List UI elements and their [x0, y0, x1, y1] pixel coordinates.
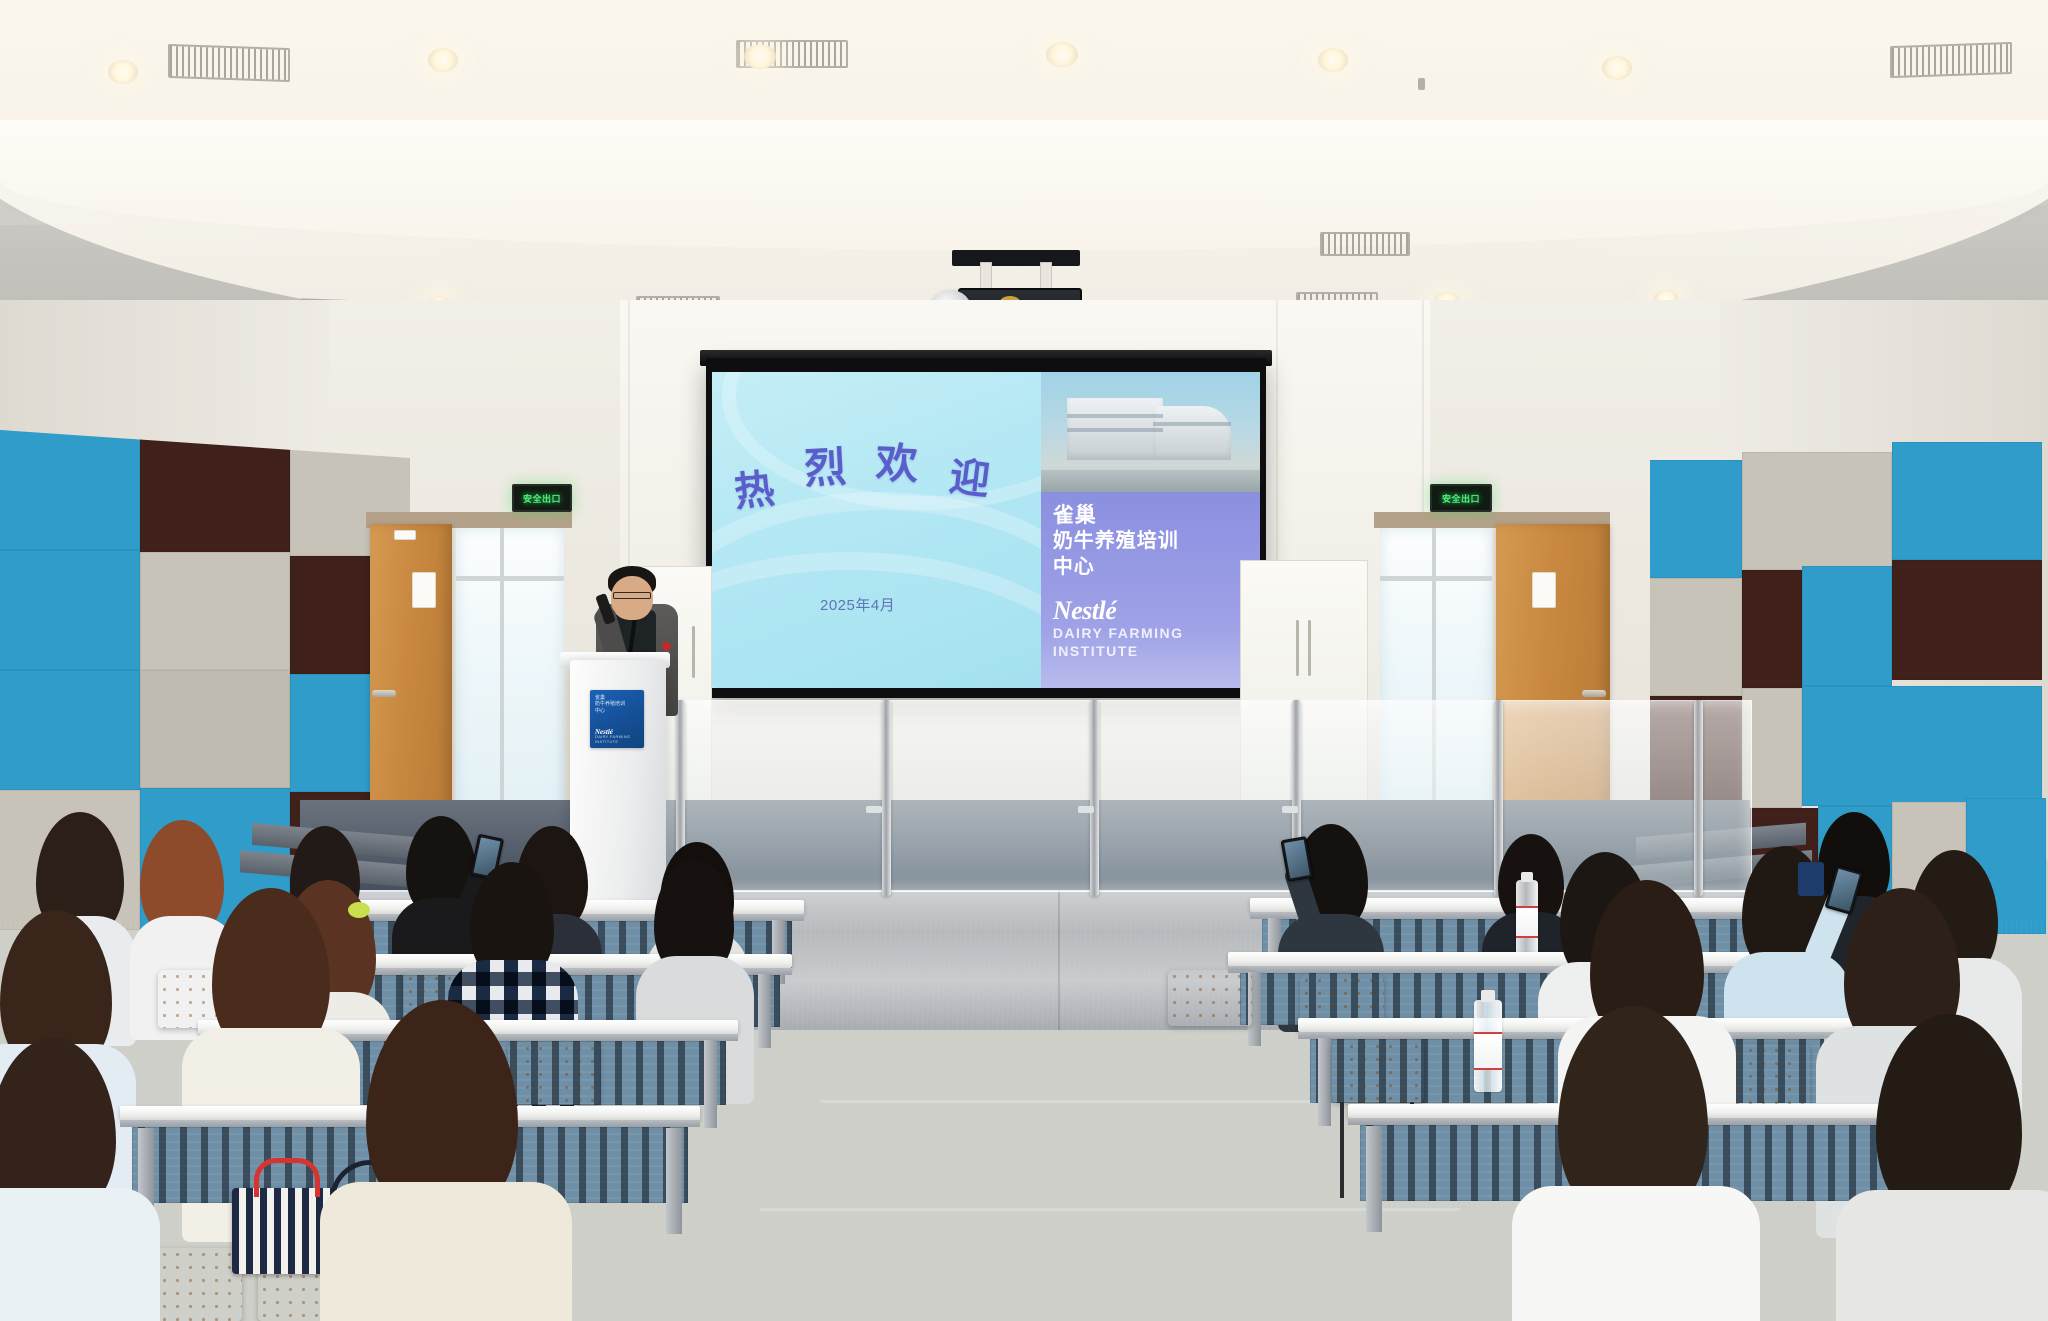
- torso: [1836, 1190, 2048, 1321]
- chair-leg: [1340, 1102, 1344, 1198]
- panel: [1742, 452, 1892, 570]
- water-bottle-back: [1516, 880, 1538, 956]
- door-left[interactable]: [370, 524, 452, 824]
- panel: [0, 670, 140, 790]
- lecture-hall-photo: 热 烈 欢 迎 2025年4月 雀巢 奶牛养殖培训 中心 Nestlé DAIR…: [0, 0, 2048, 1321]
- brand-en-line2: INSTITUTE: [1053, 644, 1139, 660]
- cabinet-handle-2[interactable]: [1308, 620, 1311, 676]
- door-handle-right[interactable]: [1582, 690, 1606, 697]
- cabinet-handle-1[interactable]: [1296, 620, 1299, 676]
- desk-leg: [1318, 1038, 1331, 1126]
- railing-post-3: [1090, 700, 1099, 896]
- door-handle-left[interactable]: [372, 690, 396, 697]
- desk-leg: [758, 974, 771, 1048]
- panel: [1892, 442, 2042, 560]
- panel: [1892, 560, 2042, 680]
- building-band-3: [1153, 422, 1231, 426]
- presenter-badge: [662, 642, 671, 651]
- building-foreground-ground: [1041, 470, 1260, 492]
- panel: [0, 430, 140, 550]
- torso: [0, 1188, 160, 1321]
- slide-left-region: 热 烈 欢 迎 2025年4月: [712, 372, 1041, 688]
- hair-tie: [348, 902, 370, 918]
- slide-date: 2025年4月: [820, 594, 895, 615]
- exit-sign-left: 安全出口: [512, 484, 572, 512]
- welcome-char-4: 迎: [947, 444, 994, 506]
- ceiling-vent-3: [1890, 42, 2012, 78]
- panel: [1742, 570, 1802, 688]
- podium-logo-sign: 雀巢 奶牛养殖培训 中心 Nestlé DAIRY FARMING INSTIT…: [590, 690, 644, 748]
- torso: [320, 1182, 572, 1321]
- railing-clip-2: [1078, 806, 1094, 813]
- chair-backrest: [1332, 1040, 1424, 1102]
- projection-screen: 热 烈 欢 迎 2025年4月 雀巢 奶牛养殖培训 中心 Nestlé DAIR…: [712, 372, 1260, 688]
- desk-leg: [666, 1128, 682, 1234]
- railing-post-2: [882, 700, 891, 896]
- projector-mount-plate: [952, 250, 1080, 266]
- ceiling-vent-7: [1320, 232, 1410, 256]
- brand-cn-line3: 中心: [1053, 556, 1095, 578]
- nestle-logotype: Nestlé: [1053, 596, 1116, 626]
- cabinet-handle-3[interactable]: [692, 626, 695, 678]
- panel: [140, 434, 290, 552]
- window-mullion-right-h: [1380, 576, 1492, 581]
- door-sign-left: [412, 572, 436, 608]
- building-block-2: [1153, 406, 1231, 460]
- bottle-label: [1516, 906, 1538, 938]
- slide-brand-panel: 雀巢 奶牛养殖培训 中心 Nestlé DAIRY FARMING INSTIT…: [1041, 492, 1260, 688]
- railing-clip-3: [1282, 806, 1298, 813]
- panel: [0, 550, 140, 670]
- welcome-char-2: 烈: [802, 433, 847, 496]
- chair-backrest: [508, 1042, 600, 1104]
- ceiling-vent-1: [168, 44, 290, 82]
- railing-post-6: [1694, 700, 1703, 896]
- bag-handle: [254, 1158, 320, 1197]
- panel: [1650, 578, 1742, 696]
- welcome-char-3: 欢: [875, 429, 919, 491]
- slide-right-panel: 雀巢 奶牛养殖培训 中心 Nestlé DAIRY FARMING INSTIT…: [1041, 372, 1260, 688]
- hair-clip: [1798, 862, 1824, 896]
- exit-sign-left-label: 安全出口: [523, 492, 561, 505]
- exit-sign-right-label: 安全出口: [1442, 492, 1480, 505]
- building-band-1: [1067, 414, 1163, 418]
- door-sign-right: [1532, 572, 1556, 608]
- torso: [1512, 1186, 1760, 1321]
- panel: [1802, 566, 1892, 686]
- floor-seam-1: [820, 1100, 1380, 1103]
- exit-sign-right: 安全出口: [1430, 484, 1492, 512]
- chair-backrest: [1168, 970, 1252, 1026]
- brand-cn-line1: 雀巢: [1053, 504, 1097, 527]
- water-bottle-right-desk: [1474, 1000, 1502, 1092]
- chair-r2-3[interactable]: [1168, 970, 1252, 1026]
- downlight-4: [1046, 42, 1078, 67]
- panel: [140, 670, 290, 788]
- desk-surface: [1228, 952, 1800, 966]
- chair-r3-3[interactable]: [1332, 1040, 1424, 1102]
- panel: [140, 552, 290, 670]
- downlight-6: [1602, 56, 1632, 80]
- podium-sign-cn: 雀巢 奶牛养殖培训 中心: [595, 695, 625, 714]
- bottle-cap: [1521, 872, 1533, 882]
- desk-leg: [704, 1040, 717, 1128]
- panel: [1650, 460, 1742, 578]
- downlight-2: [428, 48, 458, 72]
- window-mullion-left-v: [500, 528, 504, 824]
- downlight-5: [1318, 48, 1348, 72]
- bottle-cap: [1481, 990, 1495, 1002]
- brand-en-line1: DAIRY FARMING: [1053, 626, 1184, 642]
- brand-cn-line2: 奶牛养殖培训: [1053, 530, 1179, 552]
- slide-building-photo: [1041, 372, 1260, 492]
- bottle-label: [1474, 1032, 1502, 1070]
- building-band-2: [1067, 428, 1163, 432]
- chair-r3-2[interactable]: [508, 1042, 600, 1104]
- panel: [1802, 686, 2042, 806]
- window-mullion-left-h: [456, 576, 564, 581]
- sprinkler-head-1: [1418, 78, 1425, 90]
- phone-screen: [1284, 840, 1310, 879]
- podium-sign-en: DAIRY FARMING INSTITUTE: [595, 734, 644, 744]
- presenter-glasses: [613, 592, 651, 599]
- desk-edge: [1228, 966, 1800, 973]
- door-label-left-top: [394, 530, 416, 540]
- railing-clip-1: [866, 806, 882, 813]
- downlight-3: [744, 44, 776, 69]
- desk-leg: [1366, 1126, 1382, 1232]
- welcome-char-1: 热: [731, 456, 777, 518]
- downlight-1: [108, 60, 138, 84]
- window-left: [456, 528, 564, 824]
